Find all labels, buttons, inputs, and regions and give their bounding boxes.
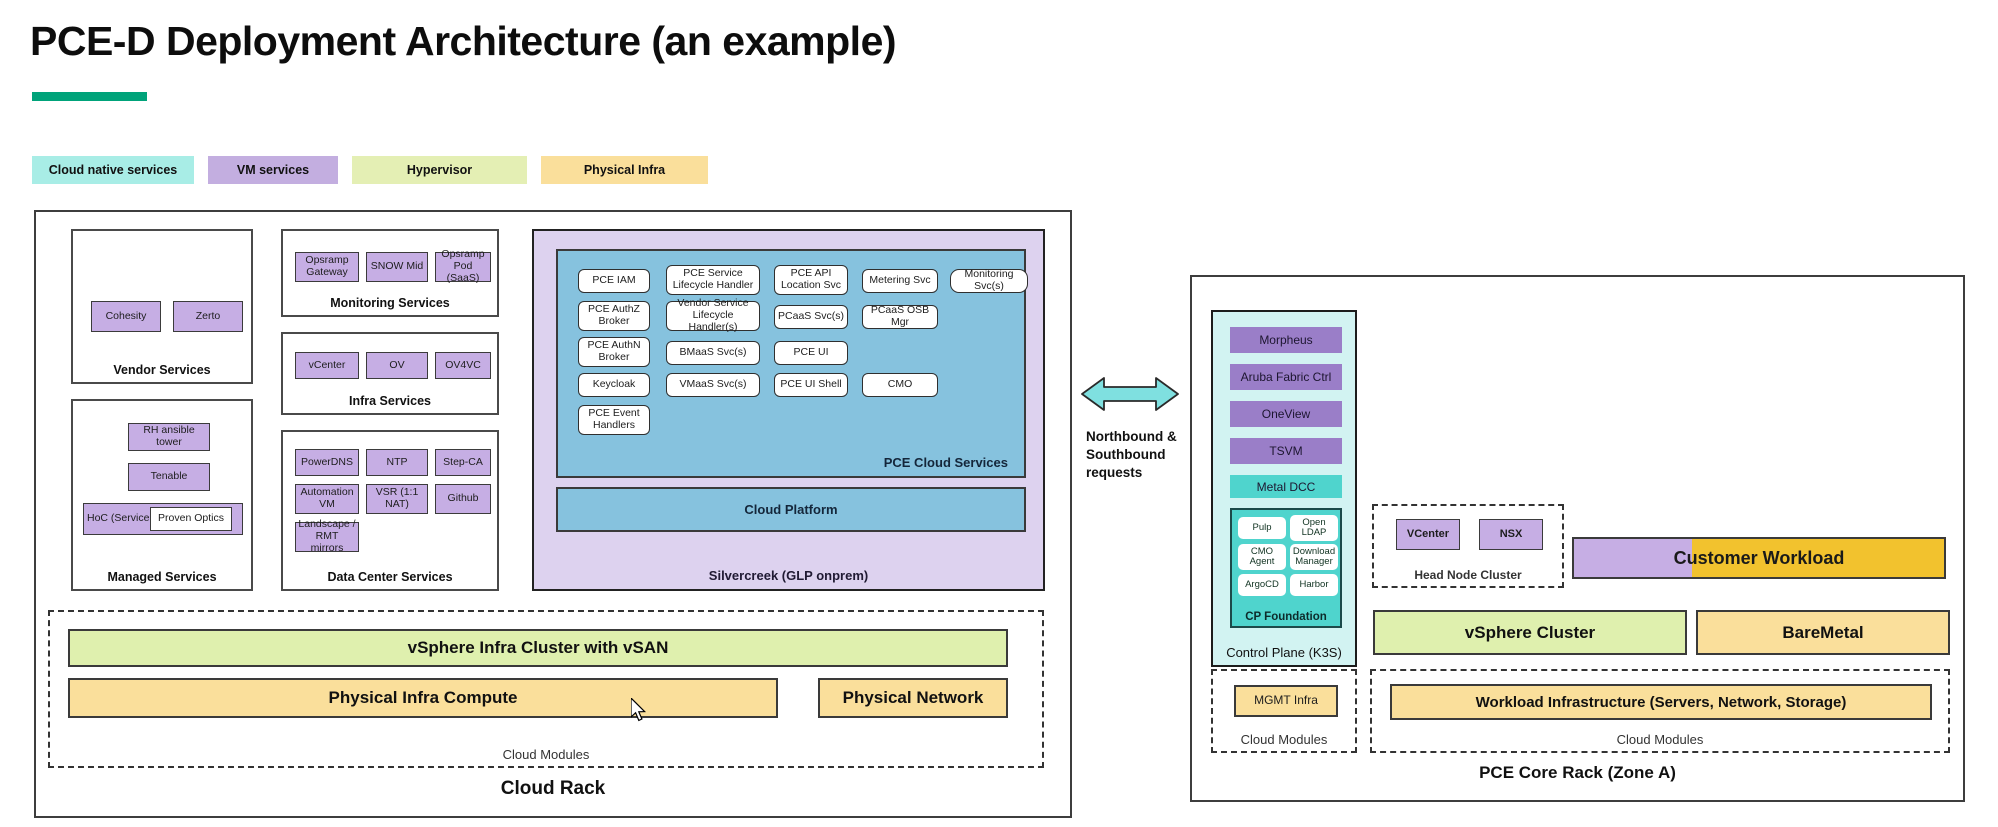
node-pce-service-lifecycle-handler[interactable]: PCE Service Lifecycle Handler (666, 265, 760, 295)
cp-foundation-label: CP Foundation (1232, 611, 1340, 623)
legend-item-cloud-native: Cloud native services (32, 156, 194, 184)
bar-workload-infrastructure[interactable]: Workload Infrastructure (Servers, Networ… (1390, 684, 1932, 720)
node-vmaas-svcs[interactable]: VMaaS Svc(s) (666, 373, 760, 397)
core-rack-cloud-modules-left-label: Cloud Modules (1213, 732, 1355, 747)
cp-item-argocd[interactable]: ArgoCD (1238, 574, 1286, 596)
node-landscape-rmt-mirrors[interactable]: Landscape / RMT mirrors (295, 522, 359, 552)
node-vcenter-head[interactable]: VCenter (1396, 519, 1460, 550)
node-pce-event-handlers[interactable]: PCE Event Handlers (578, 405, 650, 435)
double-arrow-icon (1080, 368, 1180, 420)
node-ov[interactable]: OV (366, 352, 428, 379)
node-opsramp-pod-saas[interactable]: Opsramp Pod (SaaS) (435, 252, 491, 282)
vendor-services-group: Cohesity Zerto Vendor Services (71, 229, 253, 384)
node-step-ca[interactable]: Step-CA (435, 449, 491, 476)
node-nsx[interactable]: NSX (1479, 519, 1543, 550)
pce-core-rack: Morpheus Aruba Fabric Ctrl OneView TSVM … (1190, 275, 1965, 802)
cp-item-harbor[interactable]: Harbor (1290, 574, 1338, 596)
connector-caption-line1: Northbound & (1086, 428, 1177, 446)
bar-baremetal[interactable]: BareMetal (1696, 610, 1950, 655)
vendor-services-label: Vendor Services (73, 363, 251, 377)
node-pce-ui-shell[interactable]: PCE UI Shell (774, 373, 848, 397)
node-pce-ui[interactable]: PCE UI (774, 341, 848, 365)
pce-cloud-services-group: PCE IAM PCE Service Lifecycle Handler PC… (556, 249, 1026, 478)
managed-services-group: RH ansible tower Tenable HoC (ServiceNow… (71, 399, 253, 591)
node-mgmt-infra[interactable]: MGMT Infra (1234, 685, 1338, 717)
architecture-slide: PCE-D Deployment Architecture (an exampl… (0, 0, 1998, 827)
node-pcaas-osb-mgr[interactable]: PCaaS OSB Mgr (862, 305, 938, 329)
node-vsr[interactable]: VSR (1:1 NAT) (366, 484, 428, 514)
node-ntp[interactable]: NTP (366, 449, 428, 476)
node-keycloak[interactable]: Keycloak (578, 373, 650, 397)
node-vcenter[interactable]: vCenter (295, 352, 359, 379)
cp-item-download-manager[interactable]: Download Manager (1290, 544, 1338, 570)
node-opsramp-gateway[interactable]: Opsramp Gateway (295, 252, 359, 282)
node-zerto[interactable]: Zerto (173, 301, 243, 332)
node-pce-authz-broker[interactable]: PCE AuthZ Broker (578, 301, 650, 331)
node-bmaas-svcs[interactable]: BMaaS Svc(s) (666, 341, 760, 365)
bar-vsphere-infra-cluster-vsan[interactable]: vSphere Infra Cluster with vSAN (68, 629, 1008, 667)
pce-cloud-services-label: PCE Cloud Services (884, 455, 1008, 470)
head-node-cluster-label: Head Node Cluster (1374, 568, 1562, 582)
infra-services-group: vCenter OV OV4VC Infra Services (281, 332, 499, 415)
node-pce-api-location-svc[interactable]: PCE API Location Svc (774, 265, 848, 295)
control-plane-k3s-group: Morpheus Aruba Fabric Ctrl OneView TSVM … (1211, 310, 1357, 667)
node-snow-mid[interactable]: SNOW Mid (366, 252, 428, 282)
node-cmo[interactable]: CMO (862, 373, 938, 397)
cloud-rack-cloud-modules-label: Cloud Modules (50, 747, 1042, 762)
legend: Cloud native services VM services Hyperv… (32, 156, 708, 184)
legend-item-physical-infra: Physical Infra (541, 156, 708, 184)
cp-item-pulp[interactable]: Pulp (1238, 517, 1286, 539)
node-metering-svc[interactable]: Metering Svc (862, 269, 938, 293)
bar-physical-infra-compute[interactable]: Physical Infra Compute (68, 678, 778, 718)
cp-bar-metal-dcc[interactable]: Metal DCC (1230, 475, 1342, 498)
infra-services-label: Infra Services (283, 394, 497, 408)
node-rh-ansible-tower[interactable]: RH ansible tower (128, 423, 210, 451)
cp-bar-morpheus[interactable]: Morpheus (1230, 327, 1342, 353)
customer-workload-bar[interactable]: Customer Workload (1572, 537, 1946, 579)
cp-bar-aruba-fabric-ctrl[interactable]: Aruba Fabric Ctrl (1230, 364, 1342, 390)
control-plane-label: Control Plane (K3S) (1213, 645, 1355, 660)
connector-caption-line2: Southbound (1086, 446, 1177, 464)
node-vendor-service-lifecycle-handlers[interactable]: Vendor Service Lifecycle Handler(s) (666, 301, 760, 331)
cloud-rack: Cohesity Zerto Vendor Services RH ansibl… (34, 210, 1072, 818)
legend-item-vm-services: VM services (208, 156, 338, 184)
bar-vsphere-cluster[interactable]: vSphere Cluster (1373, 610, 1687, 655)
silvercreek-label: Silvercreek (GLP onprem) (534, 568, 1043, 583)
cloud-rack-cloud-modules: vSphere Infra Cluster with vSAN Physical… (48, 610, 1044, 768)
silvercreek-group: PCE IAM PCE Service Lifecycle Handler PC… (532, 229, 1045, 591)
cloud-rack-label: Cloud Rack (36, 778, 1070, 800)
cp-item-open-ldap[interactable]: Open LDAP (1290, 515, 1338, 541)
node-proven-optics[interactable]: Proven Optics (150, 507, 232, 531)
node-powerdns[interactable]: PowerDNS (295, 449, 359, 476)
data-center-services-group: PowerDNS NTP Step-CA Automation VM VSR (… (281, 430, 499, 591)
cp-bar-oneview[interactable]: OneView (1230, 401, 1342, 427)
node-automation-vm[interactable]: Automation VM (295, 484, 359, 514)
cp-item-cmo-agent[interactable]: CMO Agent (1238, 544, 1286, 570)
cp-bar-tsvm[interactable]: TSVM (1230, 438, 1342, 464)
northbound-southbound-connector (1080, 368, 1180, 420)
pce-core-rack-label: PCE Core Rack (Zone A) (1192, 763, 1963, 783)
cloud-platform-bar[interactable]: Cloud Platform (556, 487, 1026, 532)
core-rack-cloud-modules-left: MGMT Infra Cloud Modules (1211, 669, 1357, 753)
core-rack-cloud-modules-right: Workload Infrastructure (Servers, Networ… (1370, 669, 1950, 753)
node-monitoring-svcs[interactable]: Monitoring Svc(s) (950, 269, 1028, 293)
node-pce-authn-broker[interactable]: PCE AuthN Broker (578, 337, 650, 367)
data-center-services-label: Data Center Services (283, 570, 497, 584)
node-tenable[interactable]: Tenable (128, 463, 210, 491)
bar-physical-network[interactable]: Physical Network (818, 678, 1008, 718)
monitoring-services-label: Monitoring Services (283, 296, 497, 310)
legend-item-hypervisor: Hypervisor (352, 156, 527, 184)
connector-caption: Northbound & Southbound requests (1086, 428, 1177, 483)
node-cohesity[interactable]: Cohesity (91, 301, 161, 332)
managed-services-label: Managed Services (73, 570, 251, 584)
node-ov4vc[interactable]: OV4VC (435, 352, 491, 379)
cp-foundation-group: Pulp Open LDAP CMO Agent Download Manage… (1230, 508, 1342, 628)
node-pce-iam[interactable]: PCE IAM (578, 269, 650, 293)
page-title: PCE-D Deployment Architecture (an exampl… (30, 18, 896, 65)
node-github[interactable]: Github (435, 484, 491, 514)
core-rack-cloud-modules-right-label: Cloud Modules (1372, 732, 1948, 747)
head-node-cluster-group: VCenter NSX Head Node Cluster (1372, 504, 1564, 588)
customer-workload-label: Customer Workload (1574, 539, 1944, 577)
title-accent-rule (32, 92, 147, 101)
connector-caption-line3: requests (1086, 464, 1177, 482)
monitoring-services-group: Opsramp Gateway SNOW Mid Opsramp Pod (Sa… (281, 229, 499, 317)
node-pcaas-svcs[interactable]: PCaaS Svc(s) (774, 305, 848, 329)
